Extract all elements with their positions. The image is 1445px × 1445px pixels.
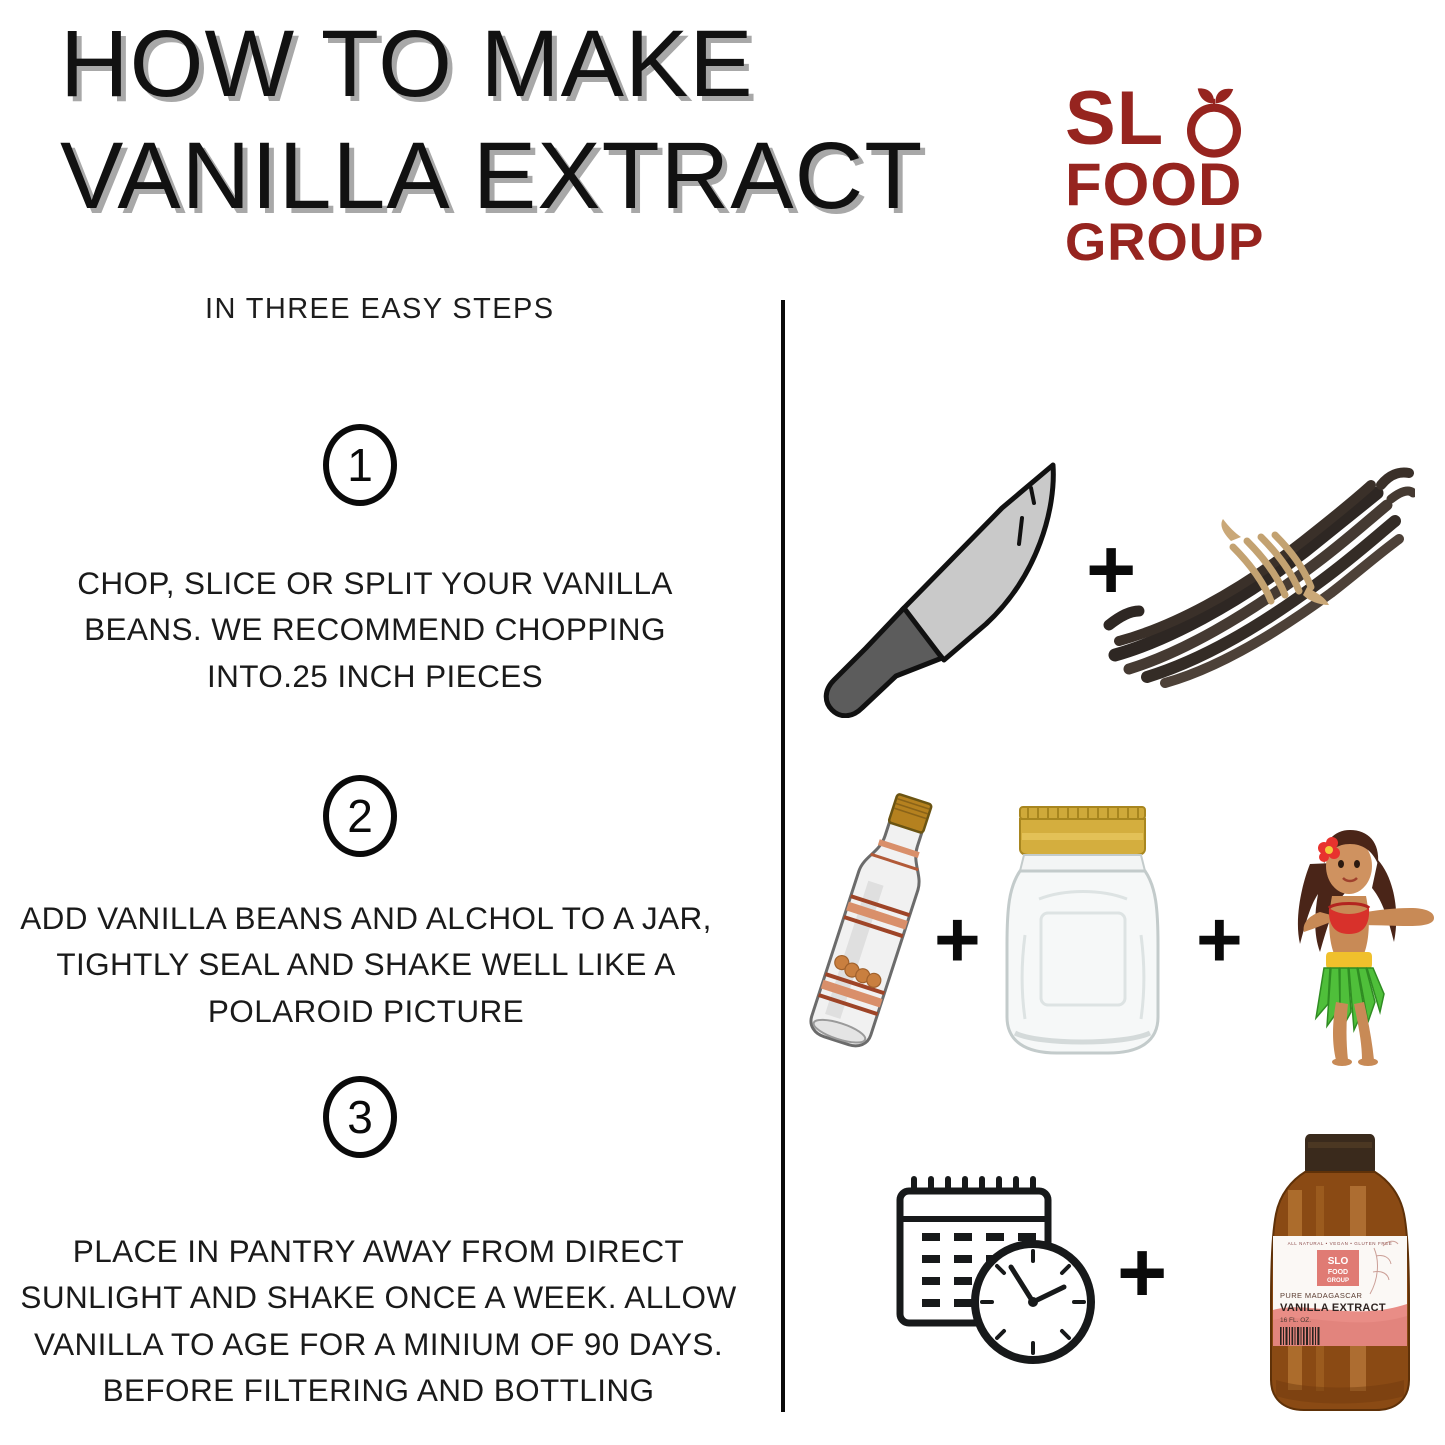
infographic-canvas: HOW TO MAKE VANILLA EXTRACT IN THREE EAS…: [0, 0, 1445, 1445]
label-brand-slo: SLO: [1328, 1256, 1349, 1267]
plus-sign-row2-left: +: [934, 900, 981, 980]
calendar-clock-icon: [878, 1175, 1128, 1400]
step-text-2: ADD VANILLA BEANS AND ALCHOL TO A JAR, T…: [6, 895, 726, 1034]
subtitle: IN THREE EASY STEPS: [205, 293, 554, 326]
label-line-1: PURE MADAGASCAR: [1280, 1291, 1362, 1300]
vertical-divider: [781, 300, 785, 1412]
plus-sign-row2-right: +: [1196, 900, 1243, 980]
step-number-2: 2: [323, 775, 397, 857]
logo-text-group: GROUP: [1065, 216, 1264, 269]
logo-text-food: FOOD: [1065, 155, 1242, 215]
mason-jar-icon: [995, 795, 1170, 1065]
step-number-3: 3: [323, 1076, 397, 1158]
vodka-bottle-icon: [795, 785, 955, 1065]
chef-knife-icon: [806, 448, 1096, 718]
label-line-3: 16 FL. OZ.: [1280, 1317, 1311, 1324]
step-text-3: PLACE IN PANTRY AWAY FROM DIRECT SUNLIGH…: [6, 1228, 751, 1413]
label-top-line: ALL NATURAL • VEGAN • GLUTEN FREE: [1288, 1241, 1393, 1246]
plus-sign-row3: +: [1117, 1230, 1167, 1316]
title-line-1: HOW TO MAKE: [60, 8, 960, 120]
title-line-2: VANILLA EXTRACT: [60, 120, 960, 232]
page-title: HOW TO MAKE VANILLA EXTRACT: [60, 8, 960, 232]
logo-text-slo: SL: [1065, 81, 1164, 157]
hula-dancer-icon: [1258, 812, 1438, 1067]
slo-food-group-logo: SL FOOD GROUP: [1063, 35, 1273, 275]
apple-with-leaf-icon: [1177, 84, 1251, 158]
vanilla-beans-bundle-icon: [1095, 455, 1415, 715]
label-line-2: VANILLA EXTRACT: [1280, 1302, 1386, 1314]
step-text-1: CHOP, SLICE OR SPLIT YOUR VANILLA BEANS.…: [30, 560, 720, 699]
step-number-1: 1: [323, 424, 397, 506]
vanilla-extract-bottle-icon: ALL NATURAL • VEGAN • GLUTEN FREE SLO FO…: [1252, 1128, 1427, 1416]
label-brand-group: GROUP: [1327, 1278, 1349, 1284]
label-brand-food: FOOD: [1328, 1269, 1348, 1276]
